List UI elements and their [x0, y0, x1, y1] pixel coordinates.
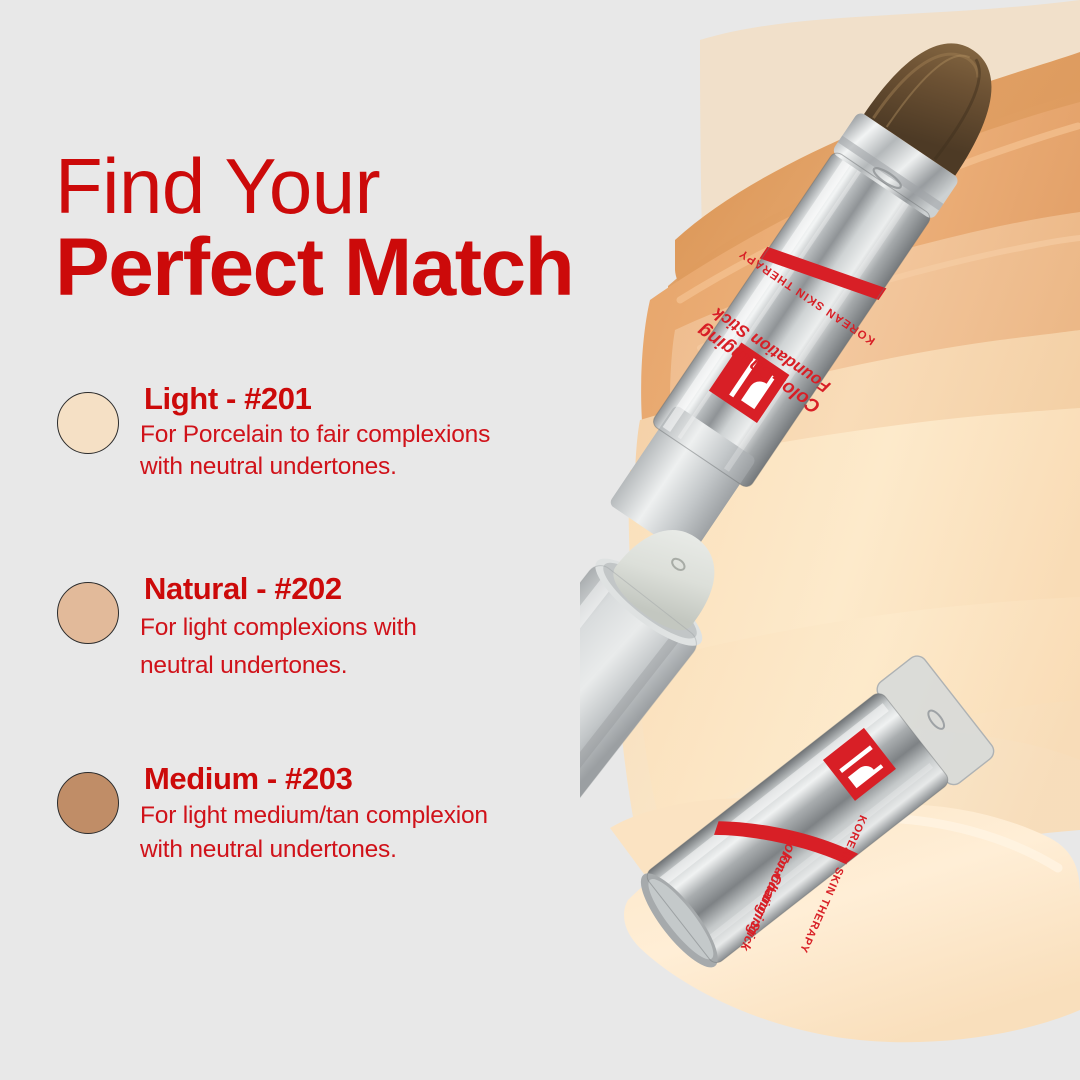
shade-description-light: For Porcelain to fair complexions with n…	[140, 419, 610, 484]
product-scene: Color-Changing Foundation Stick KOREAN S…	[580, 0, 1080, 1080]
shade-description-light-line2: with neutral undertones.	[140, 451, 610, 483]
shade-swatch-light	[57, 392, 119, 454]
headline-line-1: Find Your	[55, 148, 655, 224]
shade-name-medium: Medium - #203	[144, 762, 610, 796]
shade-description-natural: For light complexions with neutral under…	[140, 609, 610, 685]
shade-swatch-natural	[57, 582, 119, 644]
shade-name-natural: Natural - #202	[144, 572, 610, 606]
shade-description-medium-line1: For light medium/tan complexion	[140, 799, 610, 833]
headline-line-2: Perfect Match	[55, 228, 655, 308]
shade-item-medium[interactable]: Medium - #203 For light medium/tan compl…	[0, 762, 620, 952]
shade-description-natural-line2: neutral undertones.	[140, 647, 610, 685]
shade-item-natural[interactable]: Natural - #202 For light complexions wit…	[0, 572, 620, 762]
shade-description-natural-line1: For light complexions with	[140, 609, 610, 647]
shade-name-light: Light - #201	[144, 382, 610, 416]
shade-copy-medium: Medium - #203 For light medium/tan compl…	[140, 762, 610, 868]
page-title: Find Your Perfect Match	[55, 148, 655, 309]
shade-copy-natural: Natural - #202 For light complexions wit…	[140, 572, 610, 685]
shade-swatch-medium	[57, 772, 119, 834]
shade-item-light[interactable]: Light - #201 For Porcelain to fair compl…	[0, 382, 620, 572]
poster-canvas: Color-Changing Foundation Stick KOREAN S…	[0, 0, 1080, 1080]
shade-description-medium-line2: with neutral undertones.	[140, 833, 610, 867]
shade-description-light-line1: For Porcelain to fair complexions	[140, 419, 610, 451]
shade-list: Light - #201 For Porcelain to fair compl…	[0, 382, 620, 952]
shade-description-medium: For light medium/tan complexion with neu…	[140, 799, 610, 868]
shade-copy-light: Light - #201 For Porcelain to fair compl…	[140, 382, 610, 484]
